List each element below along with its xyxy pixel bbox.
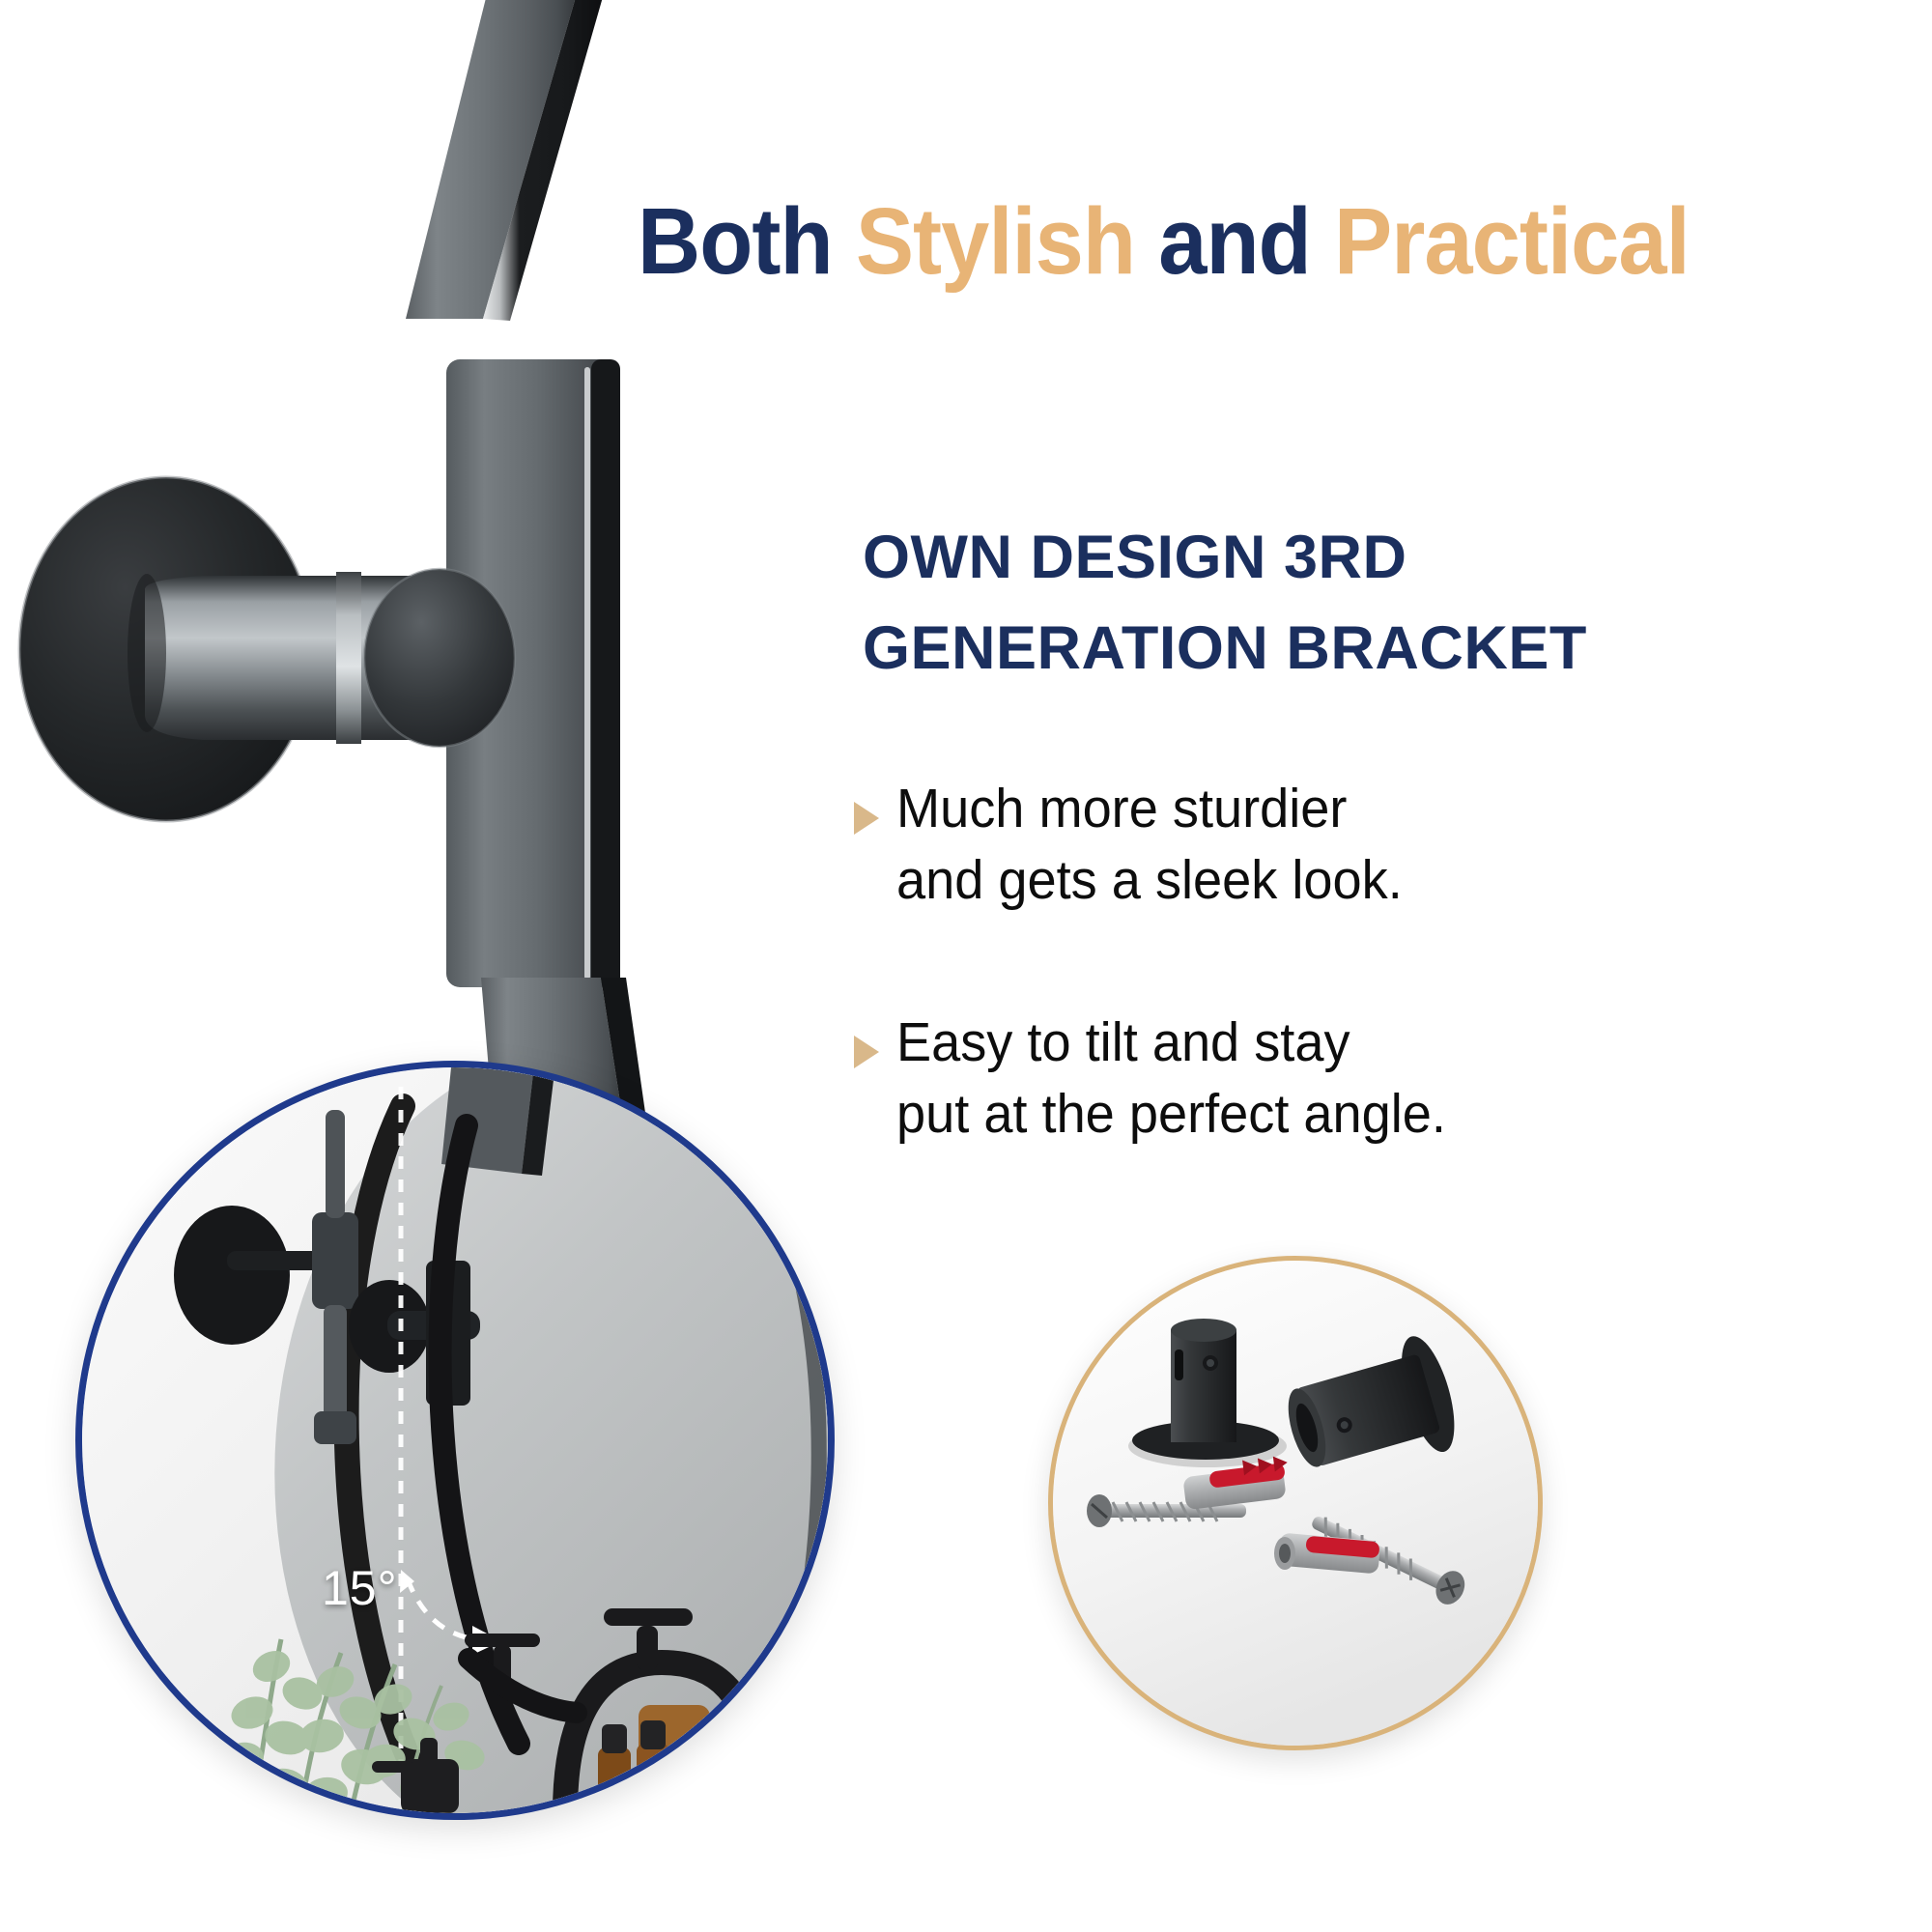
page-headline: Both Stylish and Practical: [638, 191, 1833, 298]
subheading-line-2: GENERATION BRACKET: [863, 603, 1877, 694]
headline-part-both: Both: [638, 188, 856, 294]
triangle-right-icon: [854, 1036, 879, 1068]
bullet-text: Easy to tilt and stay put at the perfect…: [896, 1007, 1446, 1150]
wall-bracket-closeup-photo: [0, 0, 696, 1140]
feature-bullet-list: Much more sturdier and gets a sleek look…: [854, 773, 1878, 1150]
bracket-rod-foot: [314, 1411, 356, 1444]
hardware-kit-scene: [1053, 1261, 1538, 1746]
list-item: Much more sturdier and gets a sleek look…: [854, 773, 1878, 916]
subheading-line-1: OWN DESIGN 3RD: [863, 512, 1877, 603]
bracket-illustration: [0, 0, 696, 1140]
bracket-rod-lower: [324, 1305, 347, 1421]
clamp-block-dark-edge: [591, 359, 620, 987]
tilted-mirror-scene: [82, 1067, 828, 1813]
headline-part-practical: Practical: [1334, 188, 1690, 294]
headline-part-and: and: [1158, 188, 1334, 294]
hardware-kit-inset: [1048, 1256, 1543, 1750]
page-subheading: OWN DESIGN 3RD GENERATION BRACKET: [863, 512, 1877, 694]
tilted-mirror-inset: [75, 1061, 835, 1820]
triangle-right-icon: [854, 802, 879, 835]
bullet-text: Much more sturdier and gets a sleek look…: [896, 773, 1403, 916]
bracket-knurled-collar: [312, 1212, 358, 1309]
bracket-rod-upper: [326, 1110, 345, 1218]
bracket-wall-plate-upper: [174, 1206, 290, 1345]
infographic-canvas: Both Stylish and Practical OWN DESIGN 3R…: [0, 0, 1932, 1932]
clamp-block-highlight: [584, 367, 590, 980]
post-collar: [336, 572, 361, 744]
headline-part-stylish: Stylish: [856, 188, 1158, 294]
post-base-shadow: [128, 574, 166, 732]
tilt-angle-label: 15°: [322, 1560, 398, 1616]
list-item: Easy to tilt and stay put at the perfect…: [854, 1007, 1878, 1150]
